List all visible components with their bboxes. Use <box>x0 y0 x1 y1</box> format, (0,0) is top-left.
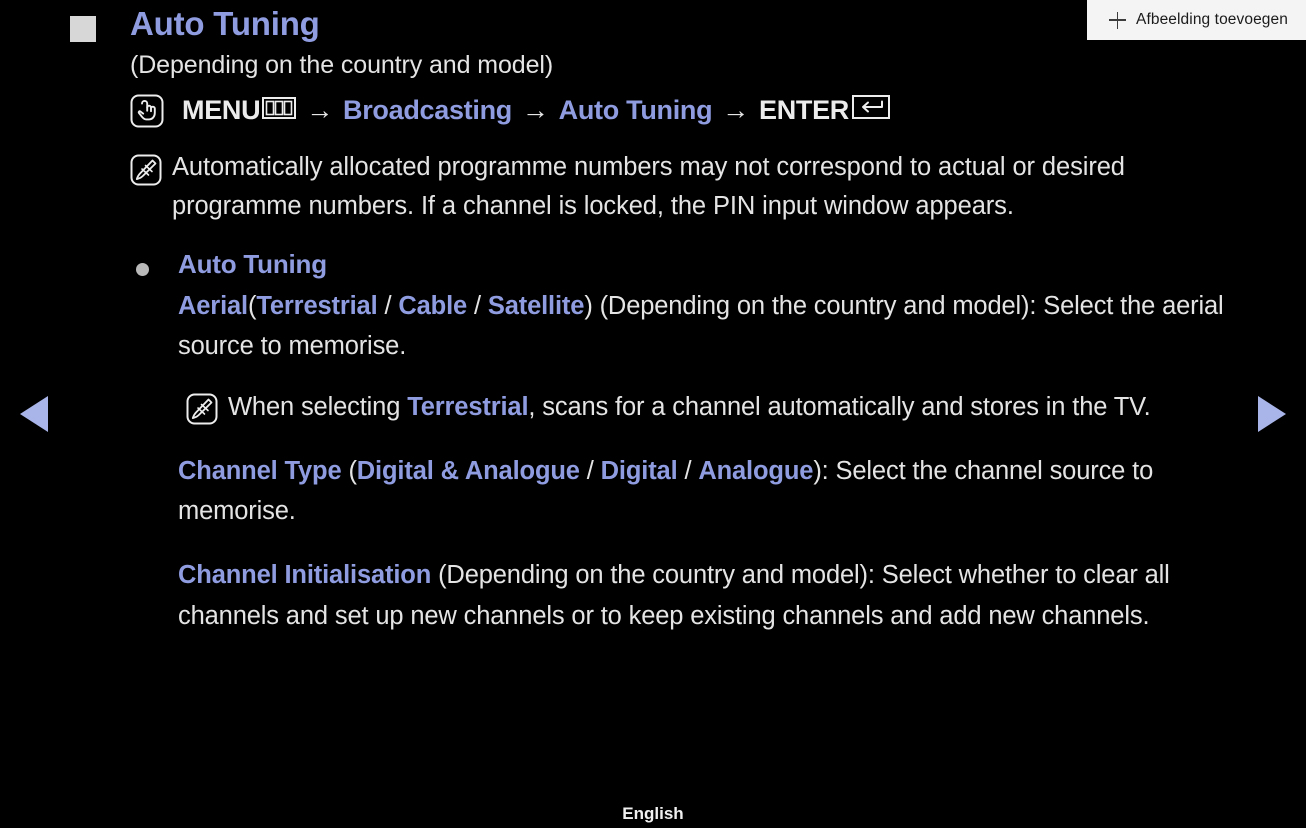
aerial-option-cable: Cable <box>398 292 467 320</box>
note-pencil-icon <box>186 393 218 425</box>
menu-grid-icon <box>262 95 296 126</box>
channel-type-close-paren: ) <box>813 457 821 485</box>
triangle-left-icon[interactable] <box>20 396 48 432</box>
enter-return-icon <box>852 95 890 126</box>
triangle-right-icon[interactable] <box>1258 396 1286 432</box>
menu-path: MENU → Broadcasting → Auto Tuning → ENTE… <box>130 94 1306 128</box>
plus-icon <box>1109 12 1126 29</box>
enter-label: ENTER <box>759 95 849 126</box>
aerial-sep-2: / <box>467 292 488 320</box>
add-image-label: Afbeelding toevoegen <box>1136 11 1288 29</box>
channel-type-open-paren: ( <box>342 457 357 485</box>
channel-type-option-digital-analogue: Digital & Analogue <box>357 457 580 485</box>
channel-type-sep-2: / <box>678 457 699 485</box>
note-block-terrestrial: When selecting Terrestrial, scans for a … <box>186 387 1306 427</box>
page-subtitle: (Depending on the country and model) <box>130 51 1306 80</box>
path-step-auto-tuning: Auto Tuning <box>559 95 713 126</box>
channel-initialisation-paragraph: Channel Initialisation (Depending on the… <box>178 555 1233 636</box>
channel-initialisation-term: Channel Initialisation <box>178 561 431 589</box>
aerial-option-satellite: Satellite <box>488 292 584 320</box>
square-bullet-icon <box>70 16 96 42</box>
path-arrow-1: → <box>306 95 333 126</box>
bullet-auto-tuning: Auto Tuning <box>136 249 1306 280</box>
subnote-text-after: , scans for a channel automatically and … <box>528 393 1150 421</box>
hand-touch-icon <box>130 94 164 128</box>
note-block-top: Automatically allocated programme number… <box>130 148 1306 227</box>
aerial-paragraph: Aerial(Terrestrial / Cable / Satellite) … <box>178 286 1233 367</box>
channel-type-sep-1: / <box>580 457 601 485</box>
channel-type-option-analogue: Analogue <box>698 457 813 485</box>
path-arrow-2: → <box>522 95 549 126</box>
note-pencil-icon <box>130 154 162 186</box>
subnote-term-terrestrial: Terrestrial <box>407 393 528 421</box>
subnote-text-before: When selecting <box>228 393 407 421</box>
bullet-label: Auto Tuning <box>178 249 327 280</box>
aerial-option-terrestrial: Terrestrial <box>256 292 377 320</box>
aerial-term: Aerial <box>178 292 248 320</box>
channel-type-term: Channel Type <box>178 457 342 485</box>
channel-type-option-digital: Digital <box>601 457 678 485</box>
footer-language: English <box>0 804 1306 824</box>
aerial-close-paren: ) <box>584 292 592 320</box>
aerial-sep-1: / <box>378 292 399 320</box>
path-arrow-3: → <box>722 95 749 126</box>
add-image-button[interactable]: Afbeelding toevoegen <box>1087 0 1306 40</box>
menu-label: MENU <box>182 95 260 126</box>
page-title: Auto Tuning <box>130 5 320 43</box>
path-step-broadcasting: Broadcasting <box>343 95 512 126</box>
dot-bullet-icon <box>136 263 149 276</box>
manual-page: Auto Tuning (Depending on the country an… <box>0 0 1306 828</box>
channel-type-paragraph: Channel Type (Digital & Analogue / Digit… <box>178 451 1233 532</box>
note-terrestrial-text: When selecting Terrestrial, scans for a … <box>228 387 1151 427</box>
note-top-text: Automatically allocated programme number… <box>172 148 1222 227</box>
